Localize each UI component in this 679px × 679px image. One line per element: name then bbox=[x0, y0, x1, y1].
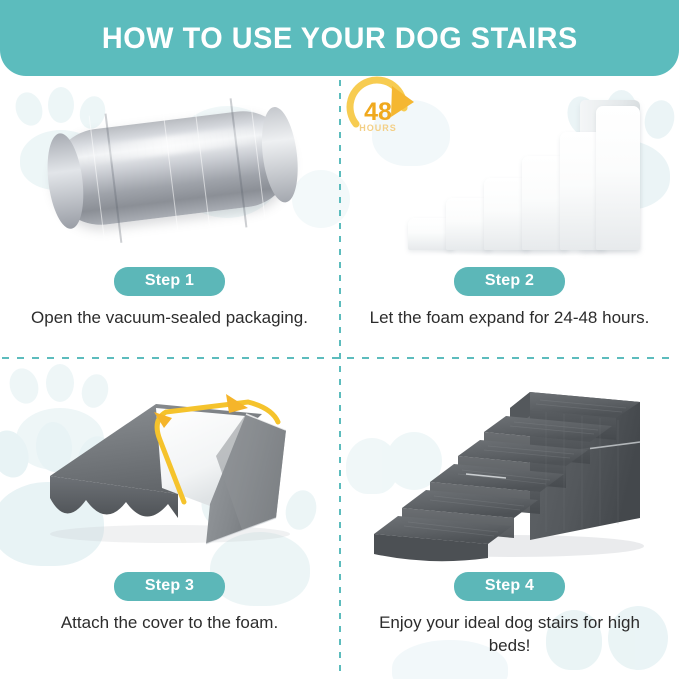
step-panel-2: 48 HOURS Step 2 Let the foam expand for … bbox=[340, 80, 679, 380]
finished-dog-stairs-image bbox=[354, 364, 666, 564]
step-4-illustration bbox=[340, 360, 679, 570]
step-1-illustration bbox=[0, 80, 339, 265]
step-badge-1: Step 1 bbox=[114, 267, 225, 296]
48-hours-number: 48 bbox=[364, 98, 392, 126]
step-2-illustration: 48 HOURS bbox=[340, 80, 679, 265]
white-foam-stairs-image bbox=[408, 100, 640, 250]
step-badge-2: Step 2 bbox=[454, 267, 565, 296]
48-hours-unit: HOURS bbox=[359, 123, 397, 133]
step-caption-4: Enjoy your ideal dog stairs for high bed… bbox=[340, 612, 679, 658]
step-panel-1: Step 1 Open the vacuum-sealed packaging. bbox=[0, 80, 339, 380]
step-caption-1: Open the vacuum-sealed packaging. bbox=[0, 307, 339, 330]
step-badge-3: Step 3 bbox=[114, 572, 225, 601]
step-3-illustration bbox=[0, 360, 339, 570]
step-badge-4: Step 4 bbox=[454, 572, 565, 601]
infographic-page: HOW TO USE YOUR DOG STAIRS Step 1 Open t… bbox=[0, 0, 679, 679]
page-title: HOW TO USE YOUR DOG STAIRS bbox=[102, 22, 578, 54]
header-banner: HOW TO USE YOUR DOG STAIRS bbox=[0, 0, 679, 76]
vacuum-sealed-roll-image bbox=[45, 92, 299, 250]
48-hours-icon: 48 HOURS bbox=[342, 72, 424, 138]
cover-attach-image bbox=[10, 368, 330, 548]
step-caption-3: Attach the cover to the foam. bbox=[0, 612, 339, 635]
step-caption-2: Let the foam expand for 24-48 hours. bbox=[340, 307, 679, 330]
step-panel-4: Step 4 Enjoy your ideal dog stairs for h… bbox=[340, 360, 679, 660]
step-panel-3: Step 3 Attach the cover to the foam. bbox=[0, 360, 339, 660]
